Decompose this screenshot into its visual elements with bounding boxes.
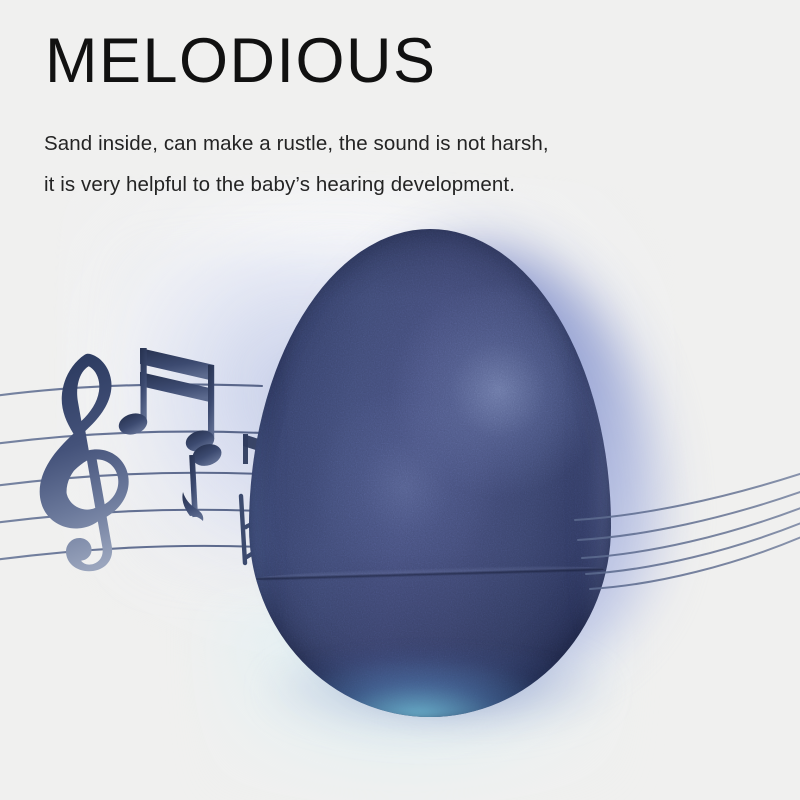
product-marketing-banner: MELODIOUS Sand inside, can make a rustle… bbox=[0, 0, 800, 800]
description-line-1: Sand inside, can make a rustle, the soun… bbox=[44, 123, 549, 164]
page-title: MELODIOUS bbox=[45, 30, 437, 93]
product-description: Sand inside, can make a rustle, the soun… bbox=[44, 123, 549, 205]
description-line-2: it is very helpful to the baby’s hearing… bbox=[44, 164, 549, 205]
background-base bbox=[0, 0, 800, 800]
